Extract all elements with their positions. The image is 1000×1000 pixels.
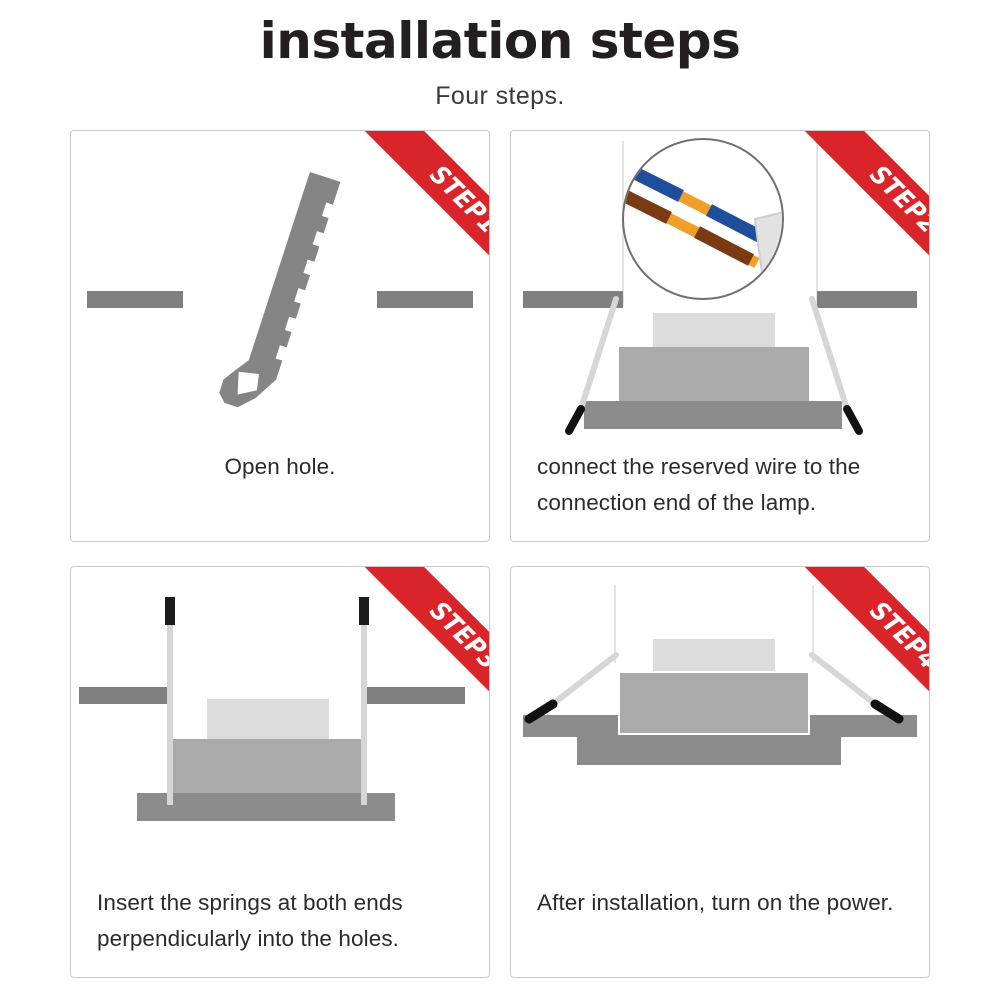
- lamp-body: [171, 739, 361, 799]
- page-subtitle: Four steps.: [0, 82, 1000, 111]
- spring-tip-right: [359, 597, 369, 625]
- illustration-installed-lamp: [511, 567, 929, 897]
- step-card-3: STEP3 Insert the springs at both ends pe…: [70, 566, 490, 978]
- step-caption-1: Open hole.: [71, 449, 489, 485]
- spring-tip-left: [165, 597, 175, 625]
- ceiling-bar-right: [367, 687, 465, 704]
- ceiling-bar-left: [87, 291, 183, 308]
- lamp-top: [653, 313, 775, 349]
- step-caption-3: Insert the springs at both ends perpendi…: [97, 885, 471, 958]
- lamp-base: [137, 793, 395, 821]
- step-card-4: STEP4 After installation, turn on the po…: [510, 566, 930, 978]
- step-caption-2: connect the reserved wire to the connect…: [537, 449, 911, 522]
- spring-right: [812, 655, 899, 719]
- page-title: installation steps: [0, 14, 1000, 69]
- lamp-body: [619, 672, 809, 734]
- illustration-connect-wire: [511, 131, 929, 461]
- ceiling-bar-right: [377, 291, 473, 308]
- hand-saw-icon: [217, 166, 341, 415]
- lamp-base: [584, 401, 842, 429]
- lamp-body: [619, 347, 809, 406]
- spring-left: [529, 655, 616, 719]
- ceiling-bar-left: [523, 291, 623, 308]
- lamp-top: [207, 699, 329, 744]
- step-card-1: STEP1 Open hole.: [70, 130, 490, 542]
- ceiling-slab-lower: [577, 735, 841, 765]
- steps-grid: STEP1 Open hole.: [70, 130, 930, 978]
- ceiling-bar-right: [817, 291, 917, 308]
- illustration-insert-springs: [71, 567, 489, 897]
- step-card-2: STEP2 connect the reserved wire to the c…: [510, 130, 930, 542]
- step-caption-4: After installation, turn on the power.: [537, 885, 911, 921]
- ceiling-bar-left: [79, 687, 169, 704]
- illustration-open-hole: [71, 131, 489, 461]
